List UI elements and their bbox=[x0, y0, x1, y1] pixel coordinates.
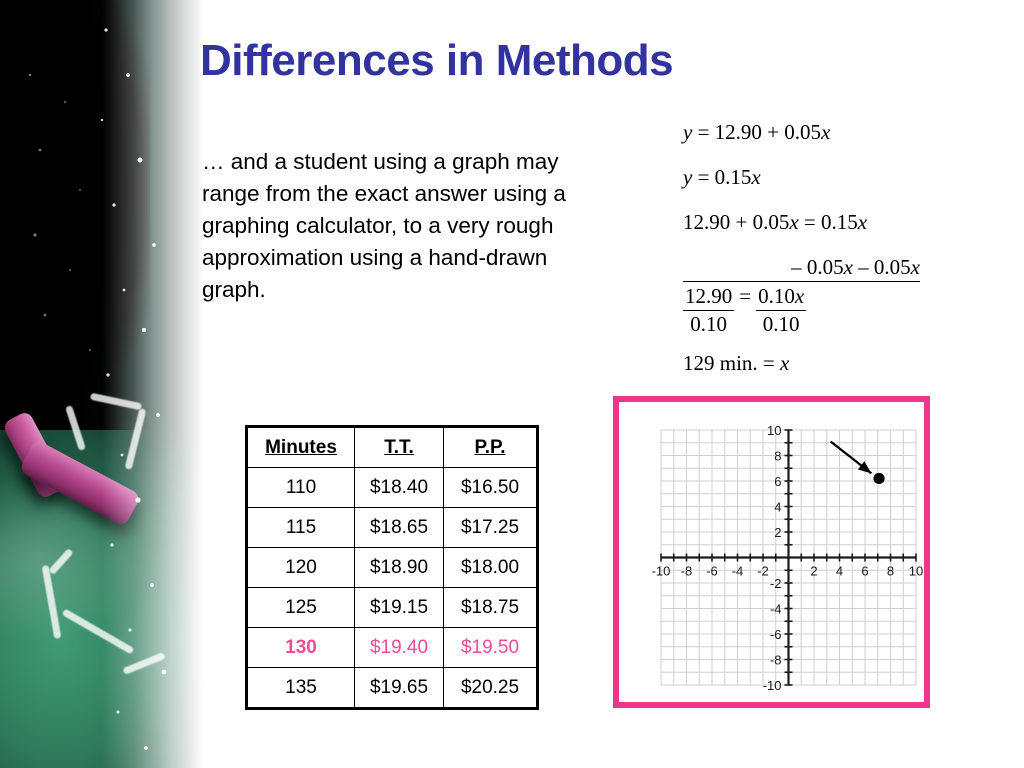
cell-minutes: 120 bbox=[247, 548, 355, 588]
cell-pp: $16.50 bbox=[444, 468, 538, 508]
y-tick-label: -8 bbox=[770, 653, 782, 668]
y-tick-label: -10 bbox=[763, 678, 782, 693]
body-paragraph: … and a student using a graph may range … bbox=[202, 146, 602, 306]
equation-line-3: 12.90 + 0.05x = 0.15x bbox=[683, 210, 983, 235]
graph-panel: -10-8-6-4-2246810-10-8-6-4-2246810 bbox=[613, 396, 930, 708]
rates-table: Minutes T.T. P.P. 110$18.40$16.50115$18.… bbox=[245, 425, 539, 710]
y-tick-label: -4 bbox=[770, 602, 782, 617]
table-header-minutes: Minutes bbox=[247, 427, 355, 468]
chalkboard-photo bbox=[0, 0, 212, 768]
x-tick-label: -2 bbox=[757, 564, 769, 579]
x-tick-label: 6 bbox=[861, 564, 868, 579]
cell-minutes: 135 bbox=[247, 668, 355, 709]
table-row: 125$19.15$18.75 bbox=[247, 588, 538, 628]
data-point bbox=[873, 473, 884, 484]
cell-minutes: 110 bbox=[247, 468, 355, 508]
cell-minutes: 130 bbox=[247, 628, 355, 668]
equation-block: y = 12.90 + 0.05x y = 0.15x 12.90 + 0.05… bbox=[683, 120, 983, 376]
cell-pp: $18.00 bbox=[444, 548, 538, 588]
page-title: Differences in Methods bbox=[200, 38, 840, 84]
x-tick-label: 10 bbox=[909, 564, 923, 579]
y-tick-label: -2 bbox=[770, 576, 782, 591]
y-tick-label: 6 bbox=[774, 474, 781, 489]
cell-minutes: 115 bbox=[247, 508, 355, 548]
x-tick-label: -8 bbox=[681, 564, 693, 579]
table-row: 115$18.65$17.25 bbox=[247, 508, 538, 548]
cell-pp: $20.25 bbox=[444, 668, 538, 709]
cell-tt: $19.40 bbox=[355, 628, 444, 668]
table-row: 110$18.40$16.50 bbox=[247, 468, 538, 508]
fraction-left-denominator: 0.10 bbox=[683, 311, 734, 337]
fraction-left: 12.90 0.10 bbox=[683, 284, 734, 337]
equation-fraction-row: 12.90 0.10 = 0.10x 0.10 bbox=[683, 284, 983, 337]
fraction-equals-sign: = bbox=[734, 284, 756, 308]
cell-minutes: 125 bbox=[247, 588, 355, 628]
table-header-tt: T.T. bbox=[355, 427, 444, 468]
graph-inner: -10-8-6-4-2246810-10-8-6-4-2246810 bbox=[619, 402, 924, 702]
x-tick-label: 8 bbox=[887, 564, 894, 579]
cell-pp: $18.75 bbox=[444, 588, 538, 628]
cell-pp: $17.25 bbox=[444, 508, 538, 548]
y-tick-label: 4 bbox=[774, 500, 781, 515]
fraction-right-denominator: 0.10 bbox=[756, 311, 806, 337]
y-tick-label: 10 bbox=[767, 423, 781, 438]
table-row: 120$18.90$18.00 bbox=[247, 548, 538, 588]
fraction-left-numerator: 12.90 bbox=[683, 284, 734, 311]
equation-final-answer: 129 min. = x bbox=[683, 351, 983, 376]
cell-tt: $18.90 bbox=[355, 548, 444, 588]
photo-dust-edge bbox=[94, 0, 212, 768]
slide: Differences in Methods … and a student u… bbox=[0, 0, 1024, 768]
cell-pp: $19.50 bbox=[444, 628, 538, 668]
x-tick-label: 4 bbox=[836, 564, 843, 579]
x-tick-label: -4 bbox=[732, 564, 744, 579]
fraction-right-numerator: 0.10x bbox=[756, 284, 806, 311]
x-tick-label: -6 bbox=[706, 564, 718, 579]
table-header-row: Minutes T.T. P.P. bbox=[247, 427, 538, 468]
x-tick-label: -10 bbox=[652, 564, 671, 579]
fraction-right: 0.10x 0.10 bbox=[756, 284, 806, 337]
table-row: 135$19.65$20.25 bbox=[247, 668, 538, 709]
cell-tt: $19.15 bbox=[355, 588, 444, 628]
y-tick-label: 2 bbox=[774, 525, 781, 540]
equation-line-2: y = 0.15x bbox=[683, 165, 983, 190]
table-row: 130$19.40$19.50 bbox=[247, 628, 538, 668]
y-tick-label: 8 bbox=[774, 449, 781, 464]
cell-tt: $18.40 bbox=[355, 468, 444, 508]
coordinate-plane-chart: -10-8-6-4-2246810-10-8-6-4-2246810 bbox=[619, 402, 924, 702]
equation-subtract-row: – 0.05x – 0.05x bbox=[683, 255, 920, 282]
equation-line-1: y = 12.90 + 0.05x bbox=[683, 120, 983, 145]
x-tick-label: 2 bbox=[810, 564, 817, 579]
y-tick-label: -6 bbox=[770, 627, 782, 642]
table-header-pp: P.P. bbox=[444, 427, 538, 468]
cell-tt: $19.65 bbox=[355, 668, 444, 709]
table-body: 110$18.40$16.50115$18.65$17.25120$18.90$… bbox=[247, 468, 538, 709]
cell-tt: $18.65 bbox=[355, 508, 444, 548]
